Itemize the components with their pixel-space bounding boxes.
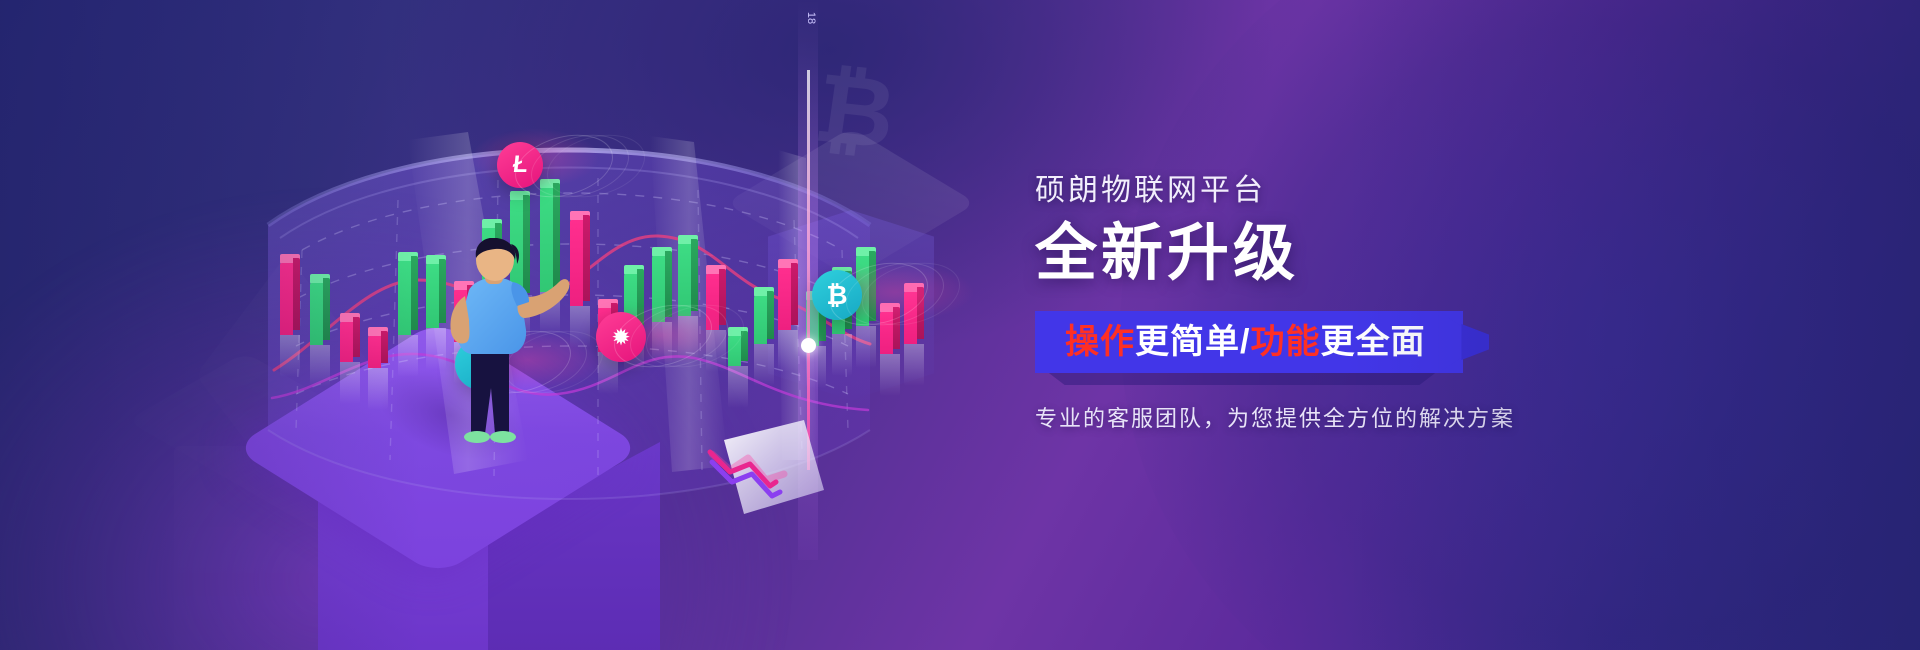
hero-banner: ₿ — [0, 0, 1920, 650]
edge-vignette — [0, 0, 1920, 650]
